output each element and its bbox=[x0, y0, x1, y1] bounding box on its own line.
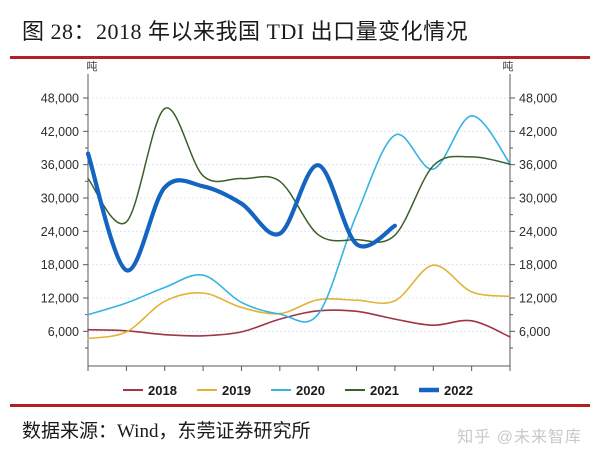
line-chart: 6,00012,00018,00024,00030,00036,00042,00… bbox=[0, 60, 600, 404]
y-axis-unit-right: 吨 bbox=[503, 60, 514, 73]
source-note: 数据来源：Wind，东莞证券研究所 bbox=[22, 416, 310, 443]
watermark: 知乎 @未来智库 bbox=[457, 423, 582, 447]
title-block: 图 28：2018 年以来我国 TDI 出口量变化情况 bbox=[0, 0, 600, 60]
legend-label-2019[interactable]: 2019 bbox=[222, 383, 251, 398]
y-tick-label-right: 36,000 bbox=[519, 158, 557, 172]
legend-label-2020[interactable]: 2020 bbox=[296, 383, 325, 398]
figure-page: 图 28：2018 年以来我国 TDI 出口量变化情况 6,00012,0001… bbox=[0, 0, 600, 451]
legend-label-2021[interactable]: 2021 bbox=[370, 383, 399, 398]
series-line-2019 bbox=[88, 265, 510, 338]
y-tick-label-left: 36,000 bbox=[41, 158, 79, 172]
data-series bbox=[88, 108, 510, 339]
y-axis-tick-labels-right: 6,00012,00018,00024,00030,00036,00042,00… bbox=[519, 92, 557, 339]
y-tick-label-left: 48,000 bbox=[41, 92, 79, 106]
y-tick-label-left: 42,000 bbox=[41, 125, 79, 139]
series-line-2022 bbox=[88, 154, 395, 271]
y-tick-label-left: 30,000 bbox=[41, 192, 79, 206]
y-tick-label-right: 12,000 bbox=[519, 292, 557, 306]
y-tick-label-right: 42,000 bbox=[519, 125, 557, 139]
legend-label-2022[interactable]: 2022 bbox=[444, 383, 473, 398]
y-tick-label-right: 18,000 bbox=[519, 258, 557, 272]
y-tick-label-left: 24,000 bbox=[41, 225, 79, 239]
y-tick-label-left: 6,000 bbox=[48, 325, 79, 339]
y-tick-label-right: 6,000 bbox=[519, 325, 550, 339]
y-axis-unit-left: 吨 bbox=[87, 60, 98, 73]
chart-area: 6,00012,00018,00024,00030,00036,00042,00… bbox=[0, 60, 600, 404]
y-tick-label-right: 24,000 bbox=[519, 225, 557, 239]
rule-bottom bbox=[10, 404, 590, 407]
chart-legend: 20182019202020212022 bbox=[123, 383, 473, 398]
y-tick-label-right: 30,000 bbox=[519, 192, 557, 206]
y-tick-label-right: 48,000 bbox=[519, 92, 557, 106]
footer: 数据来源：Wind，东莞证券研究所 知乎 @未来智库 bbox=[0, 408, 600, 451]
y-tick-label-left: 12,000 bbox=[41, 292, 79, 306]
y-axis-tick-labels-left: 6,00012,00018,00024,00030,00036,00042,00… bbox=[41, 92, 79, 339]
y-tick-label-left: 18,000 bbox=[41, 258, 79, 272]
rule-top bbox=[10, 56, 590, 59]
legend-label-2018[interactable]: 2018 bbox=[148, 383, 177, 398]
page-title: 图 28：2018 年以来我国 TDI 出口量变化情况 bbox=[22, 14, 468, 46]
series-line-2018 bbox=[88, 310, 510, 337]
